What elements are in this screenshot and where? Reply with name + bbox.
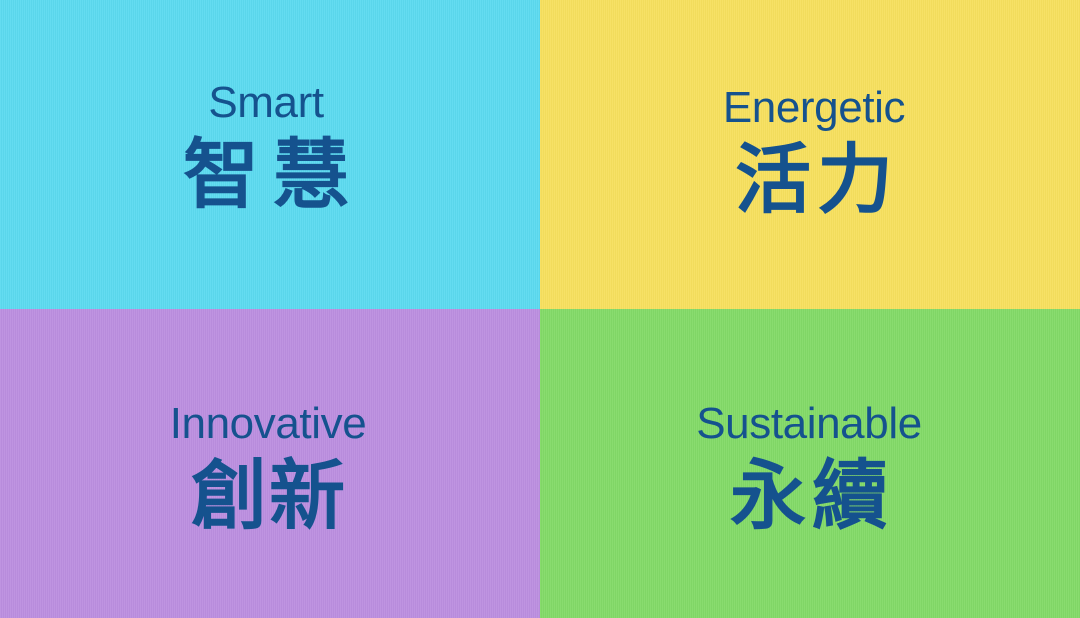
label-stack-innovative: Innovative 創新 [170,401,367,537]
label-stack-energetic: Energetic 活力 [723,85,905,221]
quadrant-sustainable-chinese-label: 永續 [724,454,894,538]
label-stack-smart: Smart 智慧 [169,80,363,216]
quadrant-innovative: Innovative 創新 [0,309,540,618]
quadrant-innovative-chinese-label: 創新 [189,454,347,538]
quadrant-smart-chinese-label: 智慧 [169,133,363,217]
quadrant-energetic-chinese-label: 活力 [729,138,899,222]
quadrant-energetic-english-label: Energetic [723,85,905,132]
quadrant-sustainable: Sustainable 永續 [540,309,1080,618]
quadrant-sustainable-english-label: Sustainable [696,401,922,448]
quadrant-innovative-english-label: Innovative [170,401,367,448]
label-stack-sustainable: Sustainable 永續 [696,401,922,537]
quadrant-energetic: Energetic 活力 [540,0,1080,309]
brand-values-poster: Smart 智慧 Energetic 活力 Innovative 創新 Sust… [0,0,1080,618]
quadrant-smart-english-label: Smart [208,80,323,127]
quadrant-smart: Smart 智慧 [0,0,540,309]
